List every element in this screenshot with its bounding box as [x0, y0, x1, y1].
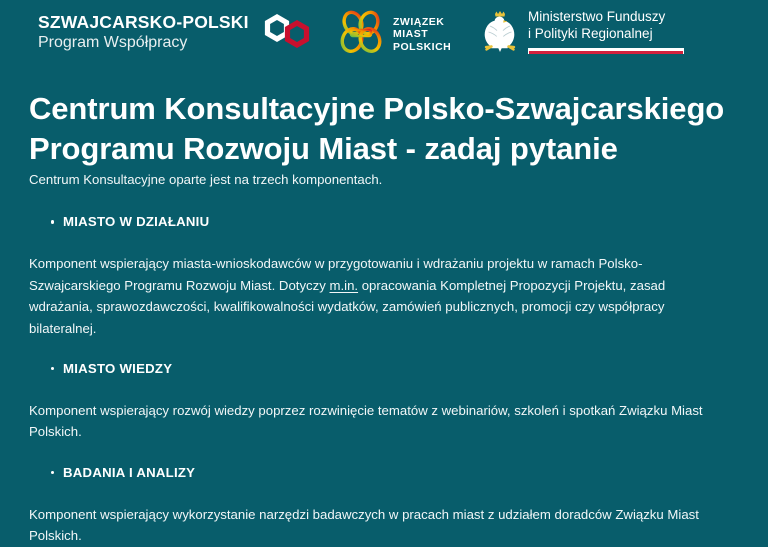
component-heading-label: BADANIA I ANALIZY [63, 465, 195, 480]
spacer [0, 483, 768, 504]
spacer [0, 232, 768, 253]
logo-association-polish-cities: ZWIĄZEK MIAST POLSKICH [336, 8, 451, 61]
logo-ministry-line1: Ministerstwo Funduszy [528, 9, 684, 26]
component-list-1: MIASTO W DZIAŁANIU [0, 211, 768, 232]
spacer [0, 190, 768, 211]
intro-paragraph: Centrum Konsultacyjne oparte jest na trz… [0, 169, 768, 190]
component-list-2: MIASTO WIEDZY [0, 358, 768, 379]
component-body-2: Komponent wspierający rozwój wiedzy popr… [0, 400, 768, 443]
logo-zmp-text: ZWIĄZEK MIAST POLSKICH [393, 16, 451, 53]
logo-ministry-line2: i Polityki Regionalnej [528, 26, 684, 43]
component-list-3: BADANIA I ANALIZY [0, 462, 768, 483]
spacer [0, 339, 768, 358]
component-heading-badania-i-analizy: BADANIA I ANALIZY [0, 462, 768, 483]
component-body-3: Komponent wspierający wykorzystanie narz… [0, 504, 768, 547]
spacer [0, 379, 768, 400]
main-content: Centrum Konsultacyjne Polsko-Szwajcarski… [0, 68, 768, 547]
logo-swiss-polish-line2: Program Współpracy [38, 35, 249, 51]
interlocking-hexagons-icon [261, 10, 317, 61]
logo-ministry-text: Ministerstwo Funduszy i Polityki Regiona… [528, 6, 684, 54]
logo-swiss-polish-programme: SZWAJCARSKO-POLSKI Program Współpracy [38, 12, 317, 61]
component-body-1: Komponent wspierający miasta-wnioskodawc… [0, 253, 768, 339]
logo-zmp-line1: ZWIĄZEK [393, 16, 451, 28]
four-loop-clover-icon [336, 8, 386, 61]
page-root: SZWAJCARSKO-POLSKI Program Współpracy [0, 0, 768, 471]
logo-zmp-line2: MIAST [393, 28, 451, 40]
logo-zmp-line3: POLSKICH [393, 41, 451, 53]
flag-stripe-red [529, 51, 683, 54]
logo-ministry: Ministerstwo Funduszy i Polityki Regiona… [481, 6, 684, 61]
component-heading-label: MIASTO W DZIAŁANIU [63, 214, 209, 229]
polish-eagle-emblem-icon [481, 6, 519, 61]
logo-swiss-polish-line1: SZWAJCARSKO-POLSKI [38, 14, 249, 32]
component-heading-miasto-w-dzialaniu: MIASTO W DZIAŁANIU [0, 211, 768, 232]
logo-swiss-polish-text: SZWAJCARSKO-POLSKI Program Współpracy [38, 12, 249, 51]
component-heading-miasto-wiedzy: MIASTO WIEDZY [0, 358, 768, 379]
logo-bar: SZWAJCARSKO-POLSKI Program Współpracy [0, 0, 768, 68]
abbreviation-min[interactable]: m.in. [329, 278, 358, 293]
component-heading-label: MIASTO WIEDZY [63, 361, 172, 376]
spacer [0, 443, 768, 462]
polish-flag-bar [528, 48, 684, 54]
page-title: Centrum Konsultacyjne Polsko-Szwajcarski… [0, 89, 768, 169]
